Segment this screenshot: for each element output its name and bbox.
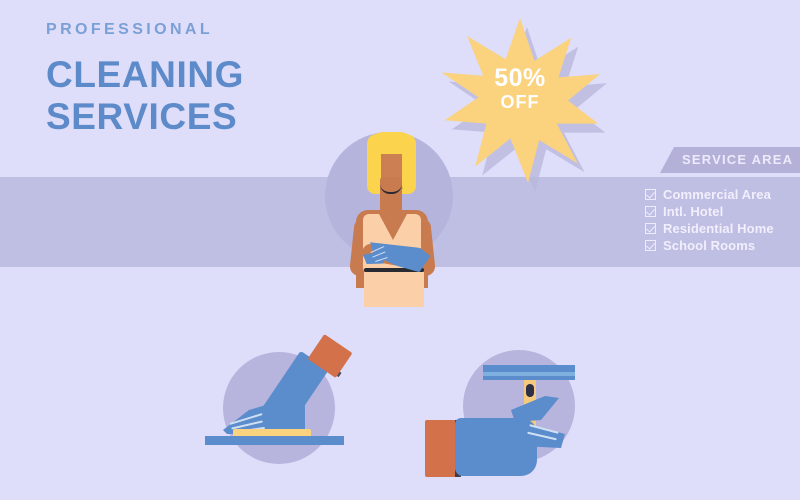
squeegee-sleeve-cuff — [425, 420, 459, 477]
service-area-item-0[interactable]: Commercial Area — [645, 186, 800, 202]
kicker-text: PROFESSIONAL — [46, 22, 376, 38]
service-area-label: Commercial Area — [663, 187, 771, 202]
checkbox-checked-icon[interactable] — [645, 240, 656, 251]
squeegee-head-bottom — [483, 376, 575, 380]
squeegee-head-top — [483, 365, 575, 372]
cleaning-surface-bar — [205, 436, 344, 445]
woman-hips — [364, 272, 424, 307]
service-area-label: Residential Home — [663, 221, 774, 236]
banner-canvas: PROFESSIONAL CLEANING SERVICES 50% OFF S… — [0, 0, 800, 500]
cleaner-woman-illustration — [318, 122, 468, 307]
gloved-hand-holding-squeegee-illustration — [425, 348, 590, 493]
service-area-list: Commercial Area Intl. Hotel Residential … — [645, 186, 800, 254]
badge-off: OFF — [440, 93, 600, 111]
woman-hair-right — [402, 134, 416, 190]
checkbox-checked-icon[interactable] — [645, 223, 656, 234]
service-area-item-2[interactable]: Residential Home — [645, 220, 800, 236]
service-area-item-1[interactable]: Intl. Hotel — [645, 203, 800, 219]
title-line-1: CLEANING — [46, 54, 376, 95]
headline-block: PROFESSIONAL CLEANING SERVICES — [46, 22, 376, 138]
checkbox-checked-icon[interactable] — [645, 206, 656, 217]
badge-percent: 50% — [440, 66, 600, 92]
checkbox-checked-icon[interactable] — [645, 189, 656, 200]
badge-text: 50% OFF — [440, 66, 600, 111]
squeegee-bolt — [526, 384, 534, 397]
service-area-label: Intl. Hotel — [663, 204, 723, 219]
woman-hair-left — [367, 134, 381, 190]
service-area-label: School Rooms — [663, 238, 755, 253]
gloved-hand-wiping-sponge-illustration — [205, 348, 355, 493]
service-area-tab: SERVICE AREA — [660, 147, 800, 173]
service-area-item-3[interactable]: School Rooms — [645, 237, 800, 253]
service-area-heading: SERVICE AREA — [682, 152, 793, 167]
